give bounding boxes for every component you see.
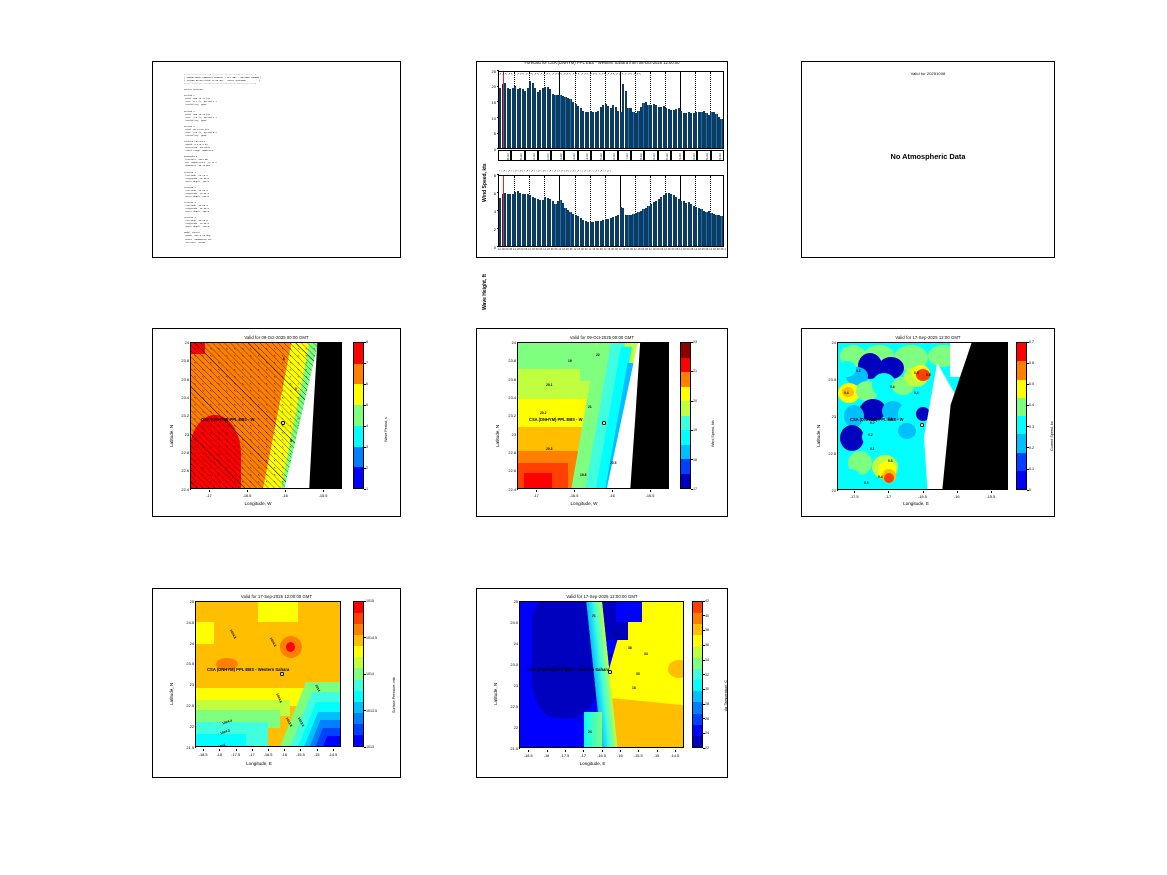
colorbar-tick-label: 4 [366, 424, 368, 428]
current-speed-ylabel: Latitude, N [816, 425, 821, 447]
colorbar-segment [681, 430, 690, 445]
air-temperature-panel: Valid for 17-Sep-2025 12:00:00 GMT 21 22… [476, 588, 728, 778]
contour-label: 24 [608, 654, 612, 658]
wave-direction-barbs: ↑↑↗↑↗↑↑↗↑↗↑↑↗↑↗↑↑↗↑↗↑↑↗↑↗↑↑↗↑↗↑↑↗↑↗↑↑↗↑↗… [499, 169, 725, 173]
station-marker [920, 423, 924, 427]
xtick-label: -16.5 [912, 494, 934, 499]
day-label: 17-Oct [626, 153, 629, 161]
colorbar-segment [1017, 361, 1026, 379]
ytick-label: 24.5 [178, 620, 194, 625]
ytick-label: 22.8 [173, 450, 189, 455]
colorbar-segment [354, 635, 363, 646]
colorbar-segment [354, 613, 363, 624]
colorbar-segment [693, 714, 702, 725]
forecast-report-text: +-------------------+-------------------… [184, 73, 396, 244]
colorbar-tick-label: 0.1 [1029, 467, 1034, 471]
colorbar-segment [354, 680, 363, 691]
wind-speed-colorbar[interactable] [680, 342, 691, 489]
day-label: 24-Oct [719, 153, 722, 161]
xtick-mark [285, 490, 286, 492]
ytick-label: 24 [820, 340, 836, 345]
colorbar-segment [681, 401, 690, 416]
day-box[interactable]: 20-Oct [658, 150, 671, 161]
wind-speed-colorbar-label: Wind Speed, kts [711, 420, 715, 447]
day-label: 22-Oct [693, 153, 696, 161]
ytick-label: 22.4 [173, 487, 189, 492]
ytick-label: 23 [820, 414, 836, 419]
wave-height-axes[interactable] [498, 175, 724, 247]
colorbar-segment [693, 647, 702, 658]
ytick-label: 25 [484, 69, 496, 74]
ytick-label: 24 [500, 340, 516, 345]
wave-height-bars [499, 176, 723, 246]
day-label: 15-Oct [600, 153, 603, 161]
colorbar-segment [1017, 434, 1026, 452]
ytick-mark [837, 379, 839, 380]
timeseries-title: Forecast for CSA (DNHYM) PPL EBS - Weste… [477, 60, 727, 65]
day-box[interactable]: 23-Oct [697, 150, 710, 161]
eddy-blob [840, 425, 864, 451]
xtick-mark [620, 750, 621, 752]
colorbar-tick-label: 1014.5 [366, 636, 377, 640]
colorbar-tick-label: 0.6 [1029, 361, 1034, 365]
air-temperature-xlabel: Longitude, E [501, 761, 684, 766]
current-speed-map-axes[interactable]: 0.3 0.4 0.3 0.4 0.5 0.5 0.4 0.2 0.1 0.2 … [837, 342, 1008, 490]
colorbar-tick-label: 0 [1029, 488, 1031, 492]
wave-period-xlabel: Longitude, W [173, 501, 343, 506]
day-box[interactable]: 11-Oct [538, 150, 551, 161]
surface-pressure-site-label: CSA (DNHYM) PPL EBS - Western Sahara [207, 667, 289, 672]
day-box[interactable]: 22-Oct [684, 150, 697, 161]
contour-label: 19.8 [580, 473, 586, 477]
contour-label: 34 [644, 652, 648, 656]
station-marker [281, 421, 285, 425]
wind-speed-bars [499, 72, 723, 148]
day-label: 11-Oct [547, 153, 550, 161]
current-speed-panel: Valid for 17-Sep-2025 12:00 GMT 0.3 0.4 … [801, 328, 1055, 517]
xtick-mark [317, 749, 318, 751]
xtick-label: -17 [198, 493, 220, 498]
xtick-mark [957, 491, 958, 493]
surface-pressure-panel: Valid for 17-Sep-2025 12:00:00 GMT 1014.… [152, 588, 401, 778]
ytick-mark [190, 489, 192, 490]
contour-label: 21 [588, 405, 592, 409]
ytick-label: 15 [484, 100, 496, 105]
ytick-mark [195, 663, 197, 664]
wave-period-colorbar-label: Wave Period, s [384, 417, 388, 442]
xtick-mark [650, 490, 651, 492]
colorbar-tick-label: 23 [693, 340, 697, 344]
xtick-label: -14.5 [322, 752, 344, 757]
contour-label: 0.3 [888, 459, 893, 463]
ytick-mark [517, 489, 519, 490]
colorbar-tick-label: 8 [366, 340, 368, 344]
contour-label: 22 [596, 353, 600, 357]
wind-speed-map-panel: Valid for 09-Oct-2025 00:00 GMT 19 20.1 … [476, 328, 728, 517]
day-box[interactable]: 15-Oct [591, 150, 604, 161]
day-box[interactable]: 14-Oct [578, 150, 591, 161]
xtick-label: -16 [946, 494, 968, 499]
xtick-mark [583, 750, 584, 752]
ytick-label: 23 [500, 432, 516, 437]
day-label: 23-Oct [706, 153, 709, 161]
ytick-label: 22.5 [820, 451, 836, 456]
ytick-mark [837, 342, 839, 343]
ytick-mark [837, 416, 839, 417]
ytick-label: 21.5 [502, 746, 518, 751]
ytick-label: 0 [484, 245, 496, 250]
contour-label: 0.4 [890, 385, 895, 389]
day-label: 14-Oct [586, 153, 589, 161]
ytick-label: 10 [484, 116, 496, 121]
xtick-mark [247, 490, 248, 492]
ytick-label: 22.5 [178, 703, 194, 708]
colorbar-segment [354, 467, 363, 488]
colorbar-tick-label: 24 [705, 731, 709, 735]
xtick-mark [536, 490, 537, 492]
ytick-label: 23.8 [500, 358, 516, 363]
day-label: 08-Oct [507, 153, 510, 161]
wave-period-map-axes[interactable]: ↖ ↖ ↖ ↖ ↖ ↖ ↖ ↖ ↖ ↖ ↖ ↖ ↖ ↖ ↖ ↖ ↖ ↖ ↖ ↖ … [190, 342, 342, 489]
ytick-mark [837, 453, 839, 454]
ytick-label: 22.6 [173, 468, 189, 473]
wind-speed-axes[interactable] [498, 71, 724, 149]
colorbar-segment [354, 447, 363, 468]
surface-pressure-colorbar[interactable] [353, 601, 364, 747]
ytick-mark [837, 490, 839, 491]
ytick-label: 25 [178, 599, 194, 604]
contour-label: 4 [290, 439, 292, 443]
colorbar-segment [354, 602, 363, 613]
surface-pressure-colorbar-label: Surface Pressure, mb [392, 677, 396, 713]
colorbar-tick-label: 0.7 [1029, 340, 1034, 344]
ytick-label: 22.4 [500, 487, 516, 492]
xtick-mark [333, 749, 334, 751]
current-speed-title: Valid for 17-Sep-2025 12:00 GMT [802, 335, 1054, 340]
ytick-label: 23.6 [173, 377, 189, 382]
colorbar-segment [681, 372, 690, 387]
wind-speed-map-axes[interactable]: 19 20.1 20.2 20.3 22 21 19.8 20.5 [517, 342, 669, 489]
colorbar-segment [354, 405, 363, 426]
ytick-mark [519, 706, 521, 707]
bar [720, 216, 722, 246]
ytick-label: 23.5 [178, 661, 194, 666]
contour-label: 20.2 [540, 411, 546, 415]
ytick-label: 24 [173, 340, 189, 345]
colorbar-tick-label: 1013 [366, 745, 374, 749]
contour-label: 0.5 [926, 373, 931, 377]
colorbar-tick-label: 1 [366, 487, 368, 491]
xtick-mark [528, 750, 529, 752]
ytick-mark [519, 664, 521, 665]
contour-label: 0.3 [856, 369, 861, 373]
colorbar-tick-label: 28 [705, 702, 709, 706]
xtick-mark [602, 750, 603, 752]
colorbar-segment [681, 358, 690, 373]
colorbar-tick-label: 1013.5 [366, 709, 377, 713]
wave-period-title: Valid for 09-Oct-2025 00:00 GMT [153, 335, 400, 340]
contour-label: 33 [636, 672, 640, 676]
ytick-label: 24 [502, 641, 518, 646]
day-box[interactable]: 12-Oct [551, 150, 564, 161]
contour-label: 20 [578, 718, 582, 722]
xtick-label: -14.5 [664, 753, 686, 758]
contour-label: 0.4 [844, 391, 849, 395]
ytick-label: 22 [502, 725, 518, 730]
contour-label: 0.3 [860, 405, 865, 409]
contour-label: 19 [568, 359, 572, 363]
xtick-label: -16.5 [236, 493, 258, 498]
xtick-mark [268, 749, 269, 751]
colorbar-segment [1017, 416, 1026, 434]
colorbar-tick-label: 32 [705, 673, 709, 677]
xtick-label: -17.5 [843, 494, 865, 499]
wave-period-panel: Valid for 09-Oct-2025 00:00 GMT ↖ ↖ ↖ ↖ … [152, 328, 401, 517]
xtick-label: -17 [877, 494, 899, 499]
ytick-label: 23 [178, 682, 194, 687]
colorbar-segment [354, 724, 363, 735]
xtick-label: -17 [525, 493, 547, 498]
eddy-blob [838, 361, 856, 377]
colorbar-segment [693, 613, 702, 624]
ytick-label: 23.4 [173, 395, 189, 400]
xtick-mark [888, 491, 889, 493]
day-label: 12-Oct [560, 153, 563, 161]
colorbar-segment [693, 624, 702, 635]
contour-label: 5 [295, 387, 297, 391]
colorbar-tick-label: 0.4 [1029, 403, 1034, 407]
xtick-label: -16 [601, 493, 623, 498]
ytick-label: 8 [484, 173, 496, 178]
wave-period-colorbar[interactable] [353, 342, 364, 489]
colorbar-tick-label: 20 [693, 399, 697, 403]
colorbar-segment [681, 474, 690, 489]
ytick-mark [195, 747, 197, 748]
day-label: 16-Oct [613, 153, 616, 161]
colorbar-segment [681, 343, 690, 358]
ytick-label: 23.8 [173, 358, 189, 363]
colorbar-tick-label: 40 [705, 614, 709, 618]
day-box[interactable]: 13-Oct [564, 150, 577, 161]
xtick-mark [923, 491, 924, 493]
ytick-label: 0 [484, 147, 496, 152]
air-temperature-colorbar-label: Air Temperature, C [724, 680, 728, 711]
forecast-report-panel: +-------------------+-------------------… [152, 61, 401, 258]
day-label: 21-Oct [679, 153, 682, 161]
contour-label: 18 [632, 686, 636, 690]
contour-label: 0.1 [870, 447, 875, 451]
colorbar-segment [681, 387, 690, 402]
ytick-label: 23.5 [820, 377, 836, 382]
ytick-label: 22 [178, 724, 194, 729]
xtick-mark [284, 749, 285, 751]
day-label: 19-Oct [653, 153, 656, 161]
colorbar-segment [693, 680, 702, 691]
xtick-mark [565, 750, 566, 752]
day-label: 13-Oct [573, 153, 576, 161]
air-temperature-colorbar[interactable] [692, 601, 703, 748]
eddy-blob [862, 427, 884, 447]
day-box[interactable]: 08-Oct [498, 150, 511, 161]
colorbar-segment [1017, 343, 1026, 361]
current-time-marker-wind [503, 72, 504, 148]
xtick-label: -15.5 [312, 493, 334, 498]
contour-label: 20.3 [546, 447, 552, 451]
colorbar-segment [681, 459, 690, 474]
colorbar-tick-label: 36 [705, 643, 709, 647]
colorbar-tick-label: 0.5 [1029, 382, 1034, 386]
air-temperature-map-axes[interactable]: 21 22 22 24 38 34 33 18 20 24 [519, 601, 684, 748]
wind-speed-map-xlabel: Longitude, W [499, 501, 669, 506]
ytick-label: 22.5 [502, 704, 518, 709]
station-marker [280, 672, 284, 676]
day-box[interactable]: 17-Oct [618, 150, 631, 161]
contour-label: 0.4 [914, 391, 919, 395]
colorbar-tick-label: 7 [366, 361, 368, 365]
xtick-mark [854, 491, 855, 493]
colorbar-tick-label: 5 [366, 403, 368, 407]
day-box[interactable]: 24-Oct [711, 150, 724, 161]
colorbar-tick-label: 30 [705, 687, 709, 691]
colorbar-tick-label: 19 [693, 428, 697, 432]
current-time-marker-wave [503, 176, 504, 246]
day-label: 20-Oct [666, 153, 669, 161]
ytick-label: 22 [820, 488, 836, 493]
contour-label: 38 [628, 646, 632, 650]
wave-period-site-label: CSA (DNHYM) PPL EBS - W [201, 417, 254, 422]
ytick-label: 23.6 [500, 377, 516, 382]
air-temperature-site-label: CSA (DNHYM) PPL EBS - Western Sahara [527, 667, 609, 672]
day-box[interactable]: 21-Oct [671, 150, 684, 161]
wind-speed-map-site-label: CSA (DNHYM) PPL EBS - W [529, 417, 582, 422]
xtick-mark [638, 750, 639, 752]
day-box[interactable]: 10-Oct [525, 150, 538, 161]
contour-label: 24 [588, 730, 592, 734]
contour-label: 0.2 [868, 433, 873, 437]
ytick-mark [519, 727, 521, 728]
xtick-label: -16 [274, 493, 296, 498]
hour-tick-labels: 12 18 00 06 12 18 00 06 12 18 00 06 12 1… [498, 248, 726, 251]
surface-pressure-map-axes[interactable]: 1014.8 1014.6 1014.4 1014.2 1014 1014.6 … [195, 601, 341, 747]
colorbar-segment [354, 646, 363, 657]
current-speed-site-label: CSA (DNHYM) PPL EBS - W [850, 417, 903, 422]
xtick-mark [323, 490, 324, 492]
colorbar-segment [1017, 380, 1026, 398]
colorbar-segment [681, 416, 690, 431]
colorbar-tick-label: 34 [705, 658, 709, 662]
colorbar-segment [693, 736, 702, 747]
ytick-label: 25 [502, 599, 518, 604]
ytick-label: 23.5 [502, 662, 518, 667]
colorbar-segment [693, 602, 702, 613]
current-speed-xlabel: Longitude, E [822, 501, 1010, 506]
colorbar-segment [681, 445, 690, 460]
eddy-blob [838, 469, 862, 490]
colorbar-segment [354, 384, 363, 405]
current-speed-colorbar[interactable] [1016, 342, 1027, 490]
ytick-mark [519, 748, 521, 749]
surface-pressure-ylabel: Latitude, N [169, 683, 174, 705]
xtick-label: -15.5 [639, 493, 661, 498]
colorbar-segment [354, 713, 363, 724]
colorbar-segment [354, 426, 363, 447]
colorbar-segment [354, 343, 363, 364]
colorbar-tick-label: 22 [705, 746, 709, 750]
xtick-label: -15.5 [980, 494, 1002, 499]
colorbar-segment [693, 669, 702, 680]
ytick-label: 5 [484, 131, 496, 136]
contour-label: 0.4 [878, 475, 883, 479]
colorbar-segment [354, 624, 363, 635]
no-data-message: No Atmospheric Data [802, 152, 1054, 161]
ytick-label: 2 [484, 227, 496, 232]
ytick-label: 23.2 [173, 413, 189, 418]
day-label-strip: 08-Oct09-Oct10-Oct11-Oct12-Oct13-Oct14-O… [498, 150, 724, 168]
xtick-mark [612, 490, 613, 492]
colorbar-segment [1017, 453, 1026, 471]
colorbar-segment [693, 702, 702, 713]
wind-speed-axis-label: Wind Speed, kts [482, 163, 488, 202]
day-label: 18-Oct [640, 153, 643, 161]
day-box[interactable]: 19-Oct [644, 150, 657, 161]
ytick-label: 20 [484, 84, 496, 89]
colorbar-tick-label: 3 [366, 445, 368, 449]
ytick-label: 22.6 [500, 468, 516, 473]
day-box[interactable]: 09-Oct [511, 150, 524, 161]
colorbar-segment [1017, 471, 1026, 489]
ytick-label: 23 [502, 683, 518, 688]
contour-label: 20.1 [546, 383, 552, 387]
colorbar-tick-label: 0.2 [1029, 446, 1034, 450]
colorbar-segment [693, 725, 702, 736]
ytick-label: 6 [484, 191, 496, 196]
colorbar-segment [354, 364, 363, 385]
eddy-blob [900, 451, 922, 471]
day-box[interactable]: 18-Oct [631, 150, 644, 161]
atmospheric-data-panel: Valid for 20251008 No Atmospheric Data [801, 61, 1055, 258]
colorbar-segment [1017, 398, 1026, 416]
colorbar-tick-label: 2 [366, 466, 368, 470]
day-label: 10-Oct [533, 153, 536, 161]
xtick-mark [300, 749, 301, 751]
colorbar-tick-label: 17 [693, 487, 697, 491]
ytick-label: 23.2 [500, 413, 516, 418]
contour-label: 1014 [218, 743, 226, 747]
xtick-mark [991, 491, 992, 493]
contour-label: 0.5 [914, 371, 919, 375]
colorbar-tick-label: 38 [705, 628, 709, 632]
colorbar-tick-label: 1014 [366, 672, 374, 676]
xtick-mark [657, 750, 658, 752]
surface-pressure-xlabel: Longitude, E [177, 761, 341, 766]
colorbar-segment [354, 691, 363, 702]
atmos-panel-title: Valid for 20251008 [802, 71, 1054, 76]
day-box[interactable]: 16-Oct [604, 150, 617, 161]
eddy-blob [884, 473, 894, 483]
station-marker [602, 421, 606, 425]
timeseries-panel: Forecast for CSA (DNHYM) PPL EBS - Weste… [476, 61, 728, 258]
bar [720, 119, 722, 148]
ytick-label: 23 [173, 432, 189, 437]
xtick-mark [236, 749, 237, 751]
colorbar-segment [693, 635, 702, 646]
colorbar-segment [693, 691, 702, 702]
colorbar-segment [693, 658, 702, 669]
colorbar-tick-label: 0.3 [1029, 425, 1034, 429]
day-label: 09-Oct [520, 153, 523, 161]
wind-direction-barbs-top: ↗↗↖↗↖↖↗↗↖↗↗↖↗↖↗↗↗↖↗↗↖↖↗↗↖↗↗↖↗↗↖↗↗↖↗↗↖↗↗↖… [499, 72, 725, 76]
ytick-mark [519, 685, 521, 686]
